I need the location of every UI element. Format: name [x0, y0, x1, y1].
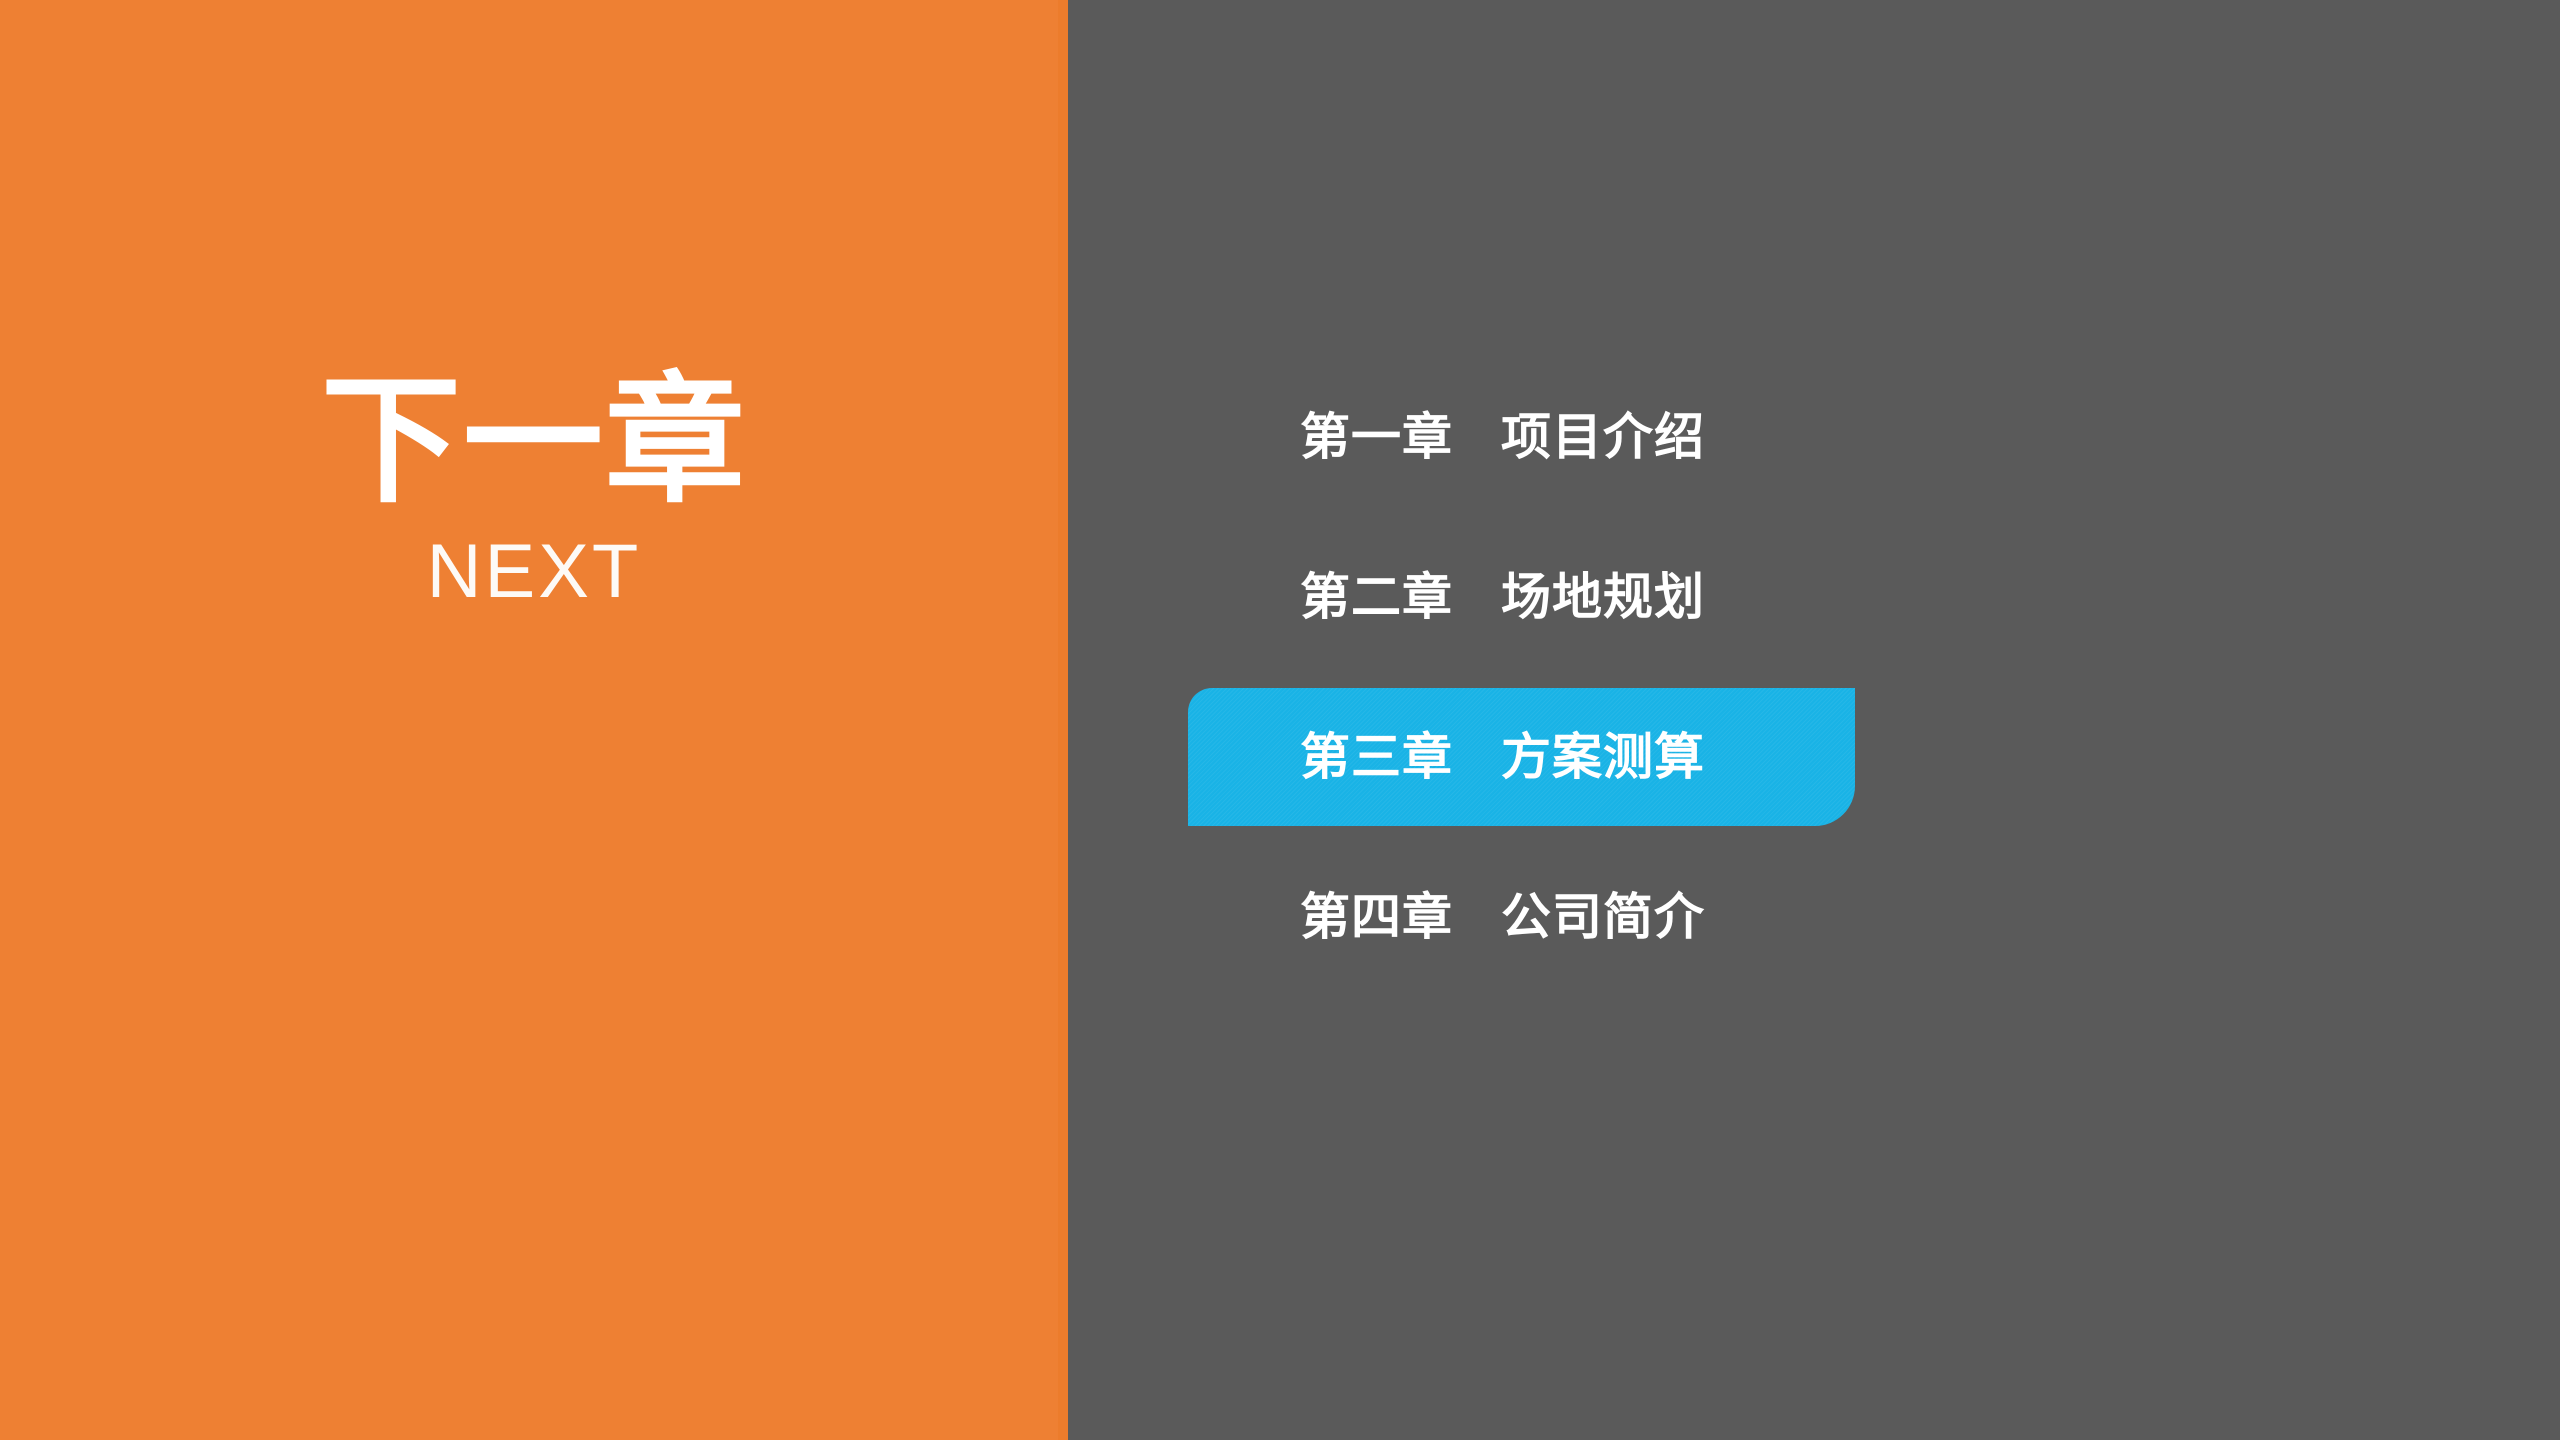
toc-item-3-label: 方案测算 [1501, 732, 1705, 782]
toc-item-chapter-2[interactable]: 第二章 场地规划 [1188, 528, 2488, 688]
toc-item-3-number: 第三章 [1300, 732, 1453, 782]
toc-item-chapter-3[interactable]: 第三章 方案测算 [1188, 688, 2488, 848]
toc-item-1-number: 第一章 [1300, 412, 1453, 462]
next-chapter-title-cn: 下一章 [0, 372, 1068, 512]
toc-item-2-inner[interactable]: 第二章 场地规划 [1188, 528, 1705, 666]
left-orange-panel: 下一章 NEXT [0, 0, 1068, 1440]
right-gray-panel: 第一章 项目介绍 第二章 场地规划 第三章 方案测算 [1068, 0, 2560, 1440]
toc-item-4-label: 公司简介 [1501, 892, 1705, 942]
next-chapter-title-en: NEXT [0, 534, 1068, 610]
toc-item-3-inner-highlight[interactable]: 第三章 方案测算 [1188, 688, 1855, 826]
toc-item-4-number: 第四章 [1300, 892, 1453, 942]
toc-item-chapter-1[interactable]: 第一章 项目介绍 [1188, 368, 2488, 528]
panel-edge-stripe [1058, 0, 1068, 1440]
toc-item-2-number: 第二章 [1300, 572, 1453, 622]
toc-item-4-inner[interactable]: 第四章 公司简介 [1188, 848, 1705, 986]
table-of-contents: 第一章 项目介绍 第二章 场地规划 第三章 方案测算 [1188, 368, 2488, 1008]
slide-canvas: 下一章 NEXT 第一章 项目介绍 第二章 场地规划 [0, 0, 2560, 1440]
toc-item-1-label: 项目介绍 [1501, 412, 1705, 462]
toc-item-1-inner[interactable]: 第一章 项目介绍 [1188, 368, 1705, 506]
toc-item-chapter-4[interactable]: 第四章 公司简介 [1188, 848, 2488, 1008]
next-chapter-block: 下一章 NEXT [0, 372, 1068, 610]
toc-item-2-label: 场地规划 [1501, 572, 1705, 622]
